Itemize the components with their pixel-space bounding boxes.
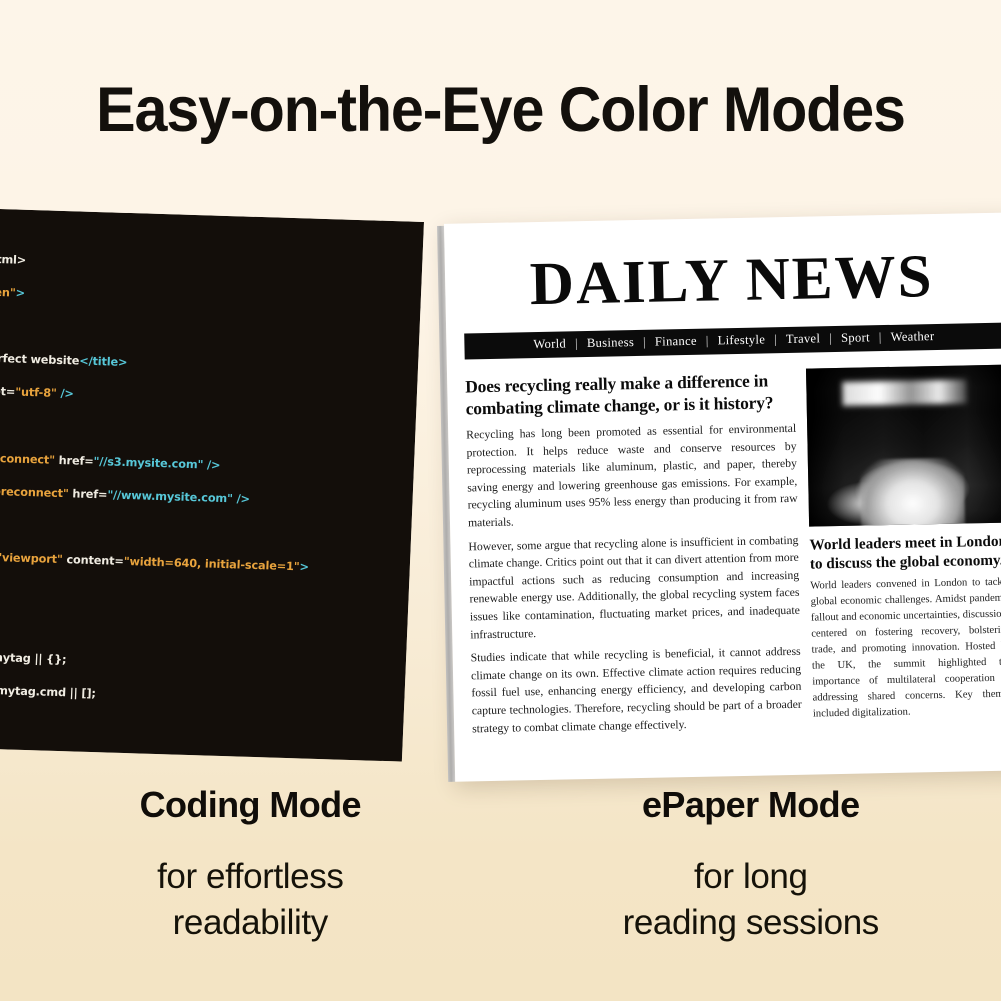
code-editor-surface: <!DOCTYPE html> <html lang="en"> <head> …	[0, 206, 424, 761]
nav-item-sport[interactable]: Sport	[839, 330, 872, 345]
coding-mode-subtitle-line2: readability	[0, 900, 501, 946]
nav-item-business[interactable]: Business	[585, 335, 636, 350]
epaper-mode-title: ePaper Mode	[501, 784, 1001, 826]
main-article-paragraph: Recycling has long been promoted as esse…	[466, 420, 798, 532]
nav-item-finance[interactable]: Finance	[653, 334, 699, 349]
nav-separator: |	[636, 335, 653, 349]
photo-highlight	[842, 380, 966, 406]
newspaper-columns: Does recycling really make a difference …	[465, 365, 1001, 744]
mode-labels: Coding Mode for effortless readability e…	[0, 784, 1001, 946]
nav-separator: |	[568, 336, 585, 350]
main-article-headline: Does recycling really make a difference …	[465, 369, 796, 420]
code-line: var gads = document.createElement('scrip…	[0, 746, 424, 761]
main-article: Does recycling really make a difference …	[465, 369, 802, 744]
code-content: <!DOCTYPE html> <html lang="en"> <head> …	[0, 206, 424, 761]
code-line: var mytag = mytag || {};	[0, 647, 424, 681]
nav-item-travel[interactable]: Travel	[784, 331, 823, 346]
nav-item-lifestyle[interactable]: Lifestyle	[716, 332, 768, 347]
code-line: <head>	[0, 315, 424, 349]
coding-mode-title: Coding Mode	[0, 784, 501, 826]
main-article-paragraph: Studies indicate that while recycling is…	[471, 643, 803, 738]
photo-foreground-pile	[860, 457, 966, 526]
side-article: World leaders meet in London to discuss …	[806, 365, 1001, 737]
nav-item-world[interactable]: World	[531, 336, 568, 351]
coding-mode-subtitle-line1: for effortless	[0, 854, 501, 900]
code-line: <meta name="viewport" content="width=640…	[0, 547, 424, 581]
code-line: <meta charset="utf-8" />	[0, 382, 424, 416]
code-line: <html lang="en">	[0, 282, 424, 316]
nav-separator: |	[822, 331, 839, 345]
code-line: <link rel="preconnect" href="//www.mysit…	[0, 481, 424, 515]
code-line: <!DOCTYPE html>	[0, 249, 424, 283]
epaper-mode-subtitle-line2: reading sessions	[501, 900, 1001, 946]
code-line: (function() {	[0, 713, 424, 747]
code-line: <script>	[0, 614, 424, 648]
code-line: <link rel="preconnect" href="//s3.mysite…	[0, 448, 424, 482]
nav-item-weather[interactable]: Weather	[888, 329, 936, 344]
newspaper-masthead: DAILY NEWS	[445, 240, 1001, 321]
coding-mode-label-group: Coding Mode for effortless readability	[0, 784, 501, 946]
epaper-mode-label-group: ePaper Mode for long reading sessions	[501, 784, 1001, 946]
code-line: <title>My perfect website</title>	[0, 348, 424, 382]
epaper-mode-subtitle: for long reading sessions	[501, 854, 1001, 946]
code-line: mytag.cmd = mytag.cmd || [];	[0, 680, 424, 714]
coding-mode-subtitle: for effortless readability	[0, 854, 501, 946]
epaper-mode-panel: DAILY NEWS World|Business|Finance|Lifest…	[437, 212, 1001, 784]
nav-separator: |	[872, 330, 889, 344]
epaper-mode-subtitle-line1: for long	[501, 854, 1001, 900]
main-article-paragraph: However, some argue that recycling alone…	[468, 531, 800, 643]
coding-mode-panel: <!DOCTYPE html> <html lang="en"> <head> …	[0, 206, 424, 761]
side-article-paragraph: World leaders convened in London to tack…	[810, 575, 1001, 723]
side-article-headline: World leaders meet in London to discuss …	[809, 532, 1001, 574]
newspaper-page: DAILY NEWS World|Business|Finance|Lifest…	[444, 212, 1001, 781]
nav-separator: |	[699, 333, 716, 347]
recycling-facility-photo	[806, 365, 1001, 527]
nav-separator: |	[767, 332, 784, 346]
newspaper-nav[interactable]: World|Business|Finance|Lifestyle|Travel|…	[464, 323, 1001, 360]
